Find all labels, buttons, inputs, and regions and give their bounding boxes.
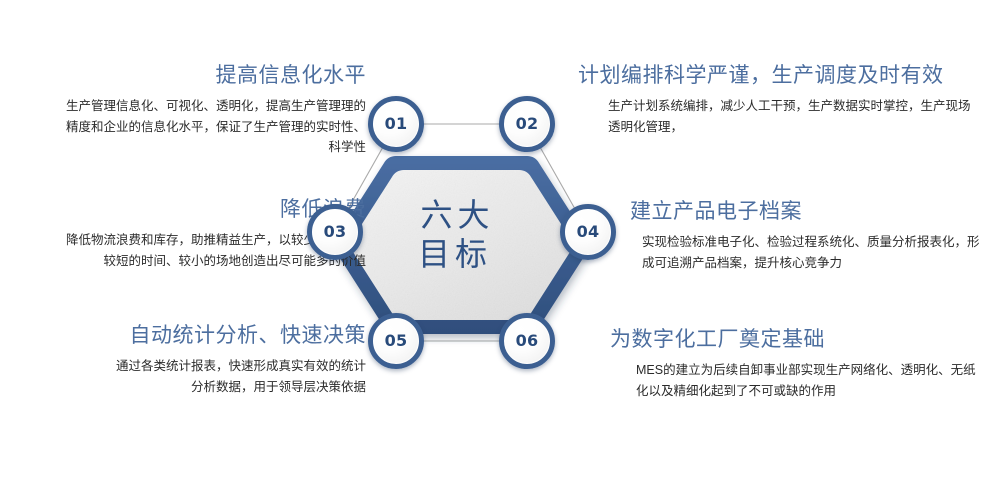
node-body-04: 实现检验标准电子化、检验过程系统化、质量分析报表化，形成可追溯产品档案，提升核心… xyxy=(630,232,982,273)
node-heading-04: 建立产品电子档案 xyxy=(630,198,982,224)
node-body-01: 生产管理信息化、可视化、透明化，提高生产管理理的精度和企业的信息化水平，保证了生… xyxy=(66,96,366,157)
node-text-01: 提高信息化水平 生产管理信息化、可视化、透明化，提高生产管理理的精度和企业的信息… xyxy=(66,62,366,157)
node-badge-06-number: 06 xyxy=(516,333,539,349)
hexagon-inner-panel xyxy=(351,170,572,320)
node-badge-04[interactable]: 04 xyxy=(560,204,616,260)
node-badge-01-number: 01 xyxy=(385,116,408,132)
node-badge-03-number: 03 xyxy=(324,224,347,240)
node-heading-05: 自动统计分析、快速决策 xyxy=(76,322,366,348)
node-text-02: 计划编排科学严谨，生产调度及时有效 生产计划系统编排，减少人工干预，生产数据实时… xyxy=(578,62,978,137)
infographic-canvas: 六大 目标 01 02 03 04 05 06 提高信息化水平 生产管理信息化、… xyxy=(0,0,1000,497)
node-badge-05[interactable]: 05 xyxy=(368,313,424,369)
node-text-05: 自动统计分析、快速决策 通过各类统计报表，快速形成真实有效的统计分析数据，用于领… xyxy=(76,322,366,397)
node-heading-01: 提高信息化水平 xyxy=(66,62,366,88)
node-body-06: MES的建立为后续自卸事业部实现生产网络化、透明化、无纸化以及精细化起到了不可或… xyxy=(610,360,980,401)
node-badge-02-number: 02 xyxy=(516,116,539,132)
node-badge-01[interactable]: 01 xyxy=(368,96,424,152)
node-body-02: 生产计划系统编排，减少人工干预，生产数据实时掌控，生产现场透明化管理， xyxy=(578,96,978,137)
node-text-04: 建立产品电子档案 实现检验标准电子化、检验过程系统化、质量分析报表化，形成可追溯… xyxy=(630,198,982,273)
node-badge-04-number: 04 xyxy=(577,224,600,240)
node-body-05: 通过各类统计报表，快速形成真实有效的统计分析数据，用于领导层决策依据 xyxy=(76,356,366,397)
node-badge-02[interactable]: 02 xyxy=(499,96,555,152)
node-text-06: 为数字化工厂奠定基础 MES的建立为后续自卸事业部实现生产网络化、透明化、无纸化… xyxy=(610,326,980,401)
node-heading-06: 为数字化工厂奠定基础 xyxy=(610,326,980,352)
node-badge-03[interactable]: 03 xyxy=(307,204,363,260)
node-badge-06[interactable]: 06 xyxy=(499,313,555,369)
node-heading-02: 计划编排科学严谨，生产调度及时有效 xyxy=(578,62,978,88)
node-badge-05-number: 05 xyxy=(385,333,408,349)
